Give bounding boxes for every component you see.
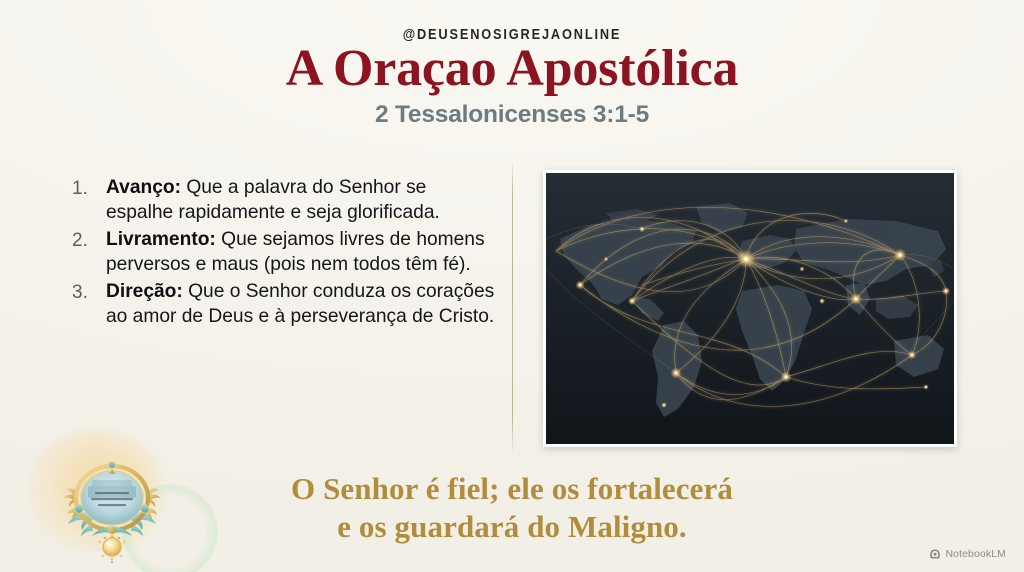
- list-item-number: 1.: [72, 176, 106, 202]
- list-item-number: 3.: [72, 280, 106, 306]
- slide-canvas: @DEUSENOSIGREJAONLINE A Oraçao Apostólic…: [0, 0, 1024, 572]
- list-item: 1. Avanço: Que a palavra do Senhor se es…: [72, 176, 496, 226]
- list-item-label: Direção:: [106, 281, 183, 302]
- ministry-seal-icon: [62, 446, 162, 564]
- list-item: 2. Livramento: Que sejamos livres de hom…: [72, 228, 496, 278]
- emblem-area: [26, 424, 202, 572]
- column-divider: [512, 163, 513, 451]
- points-list: 1. Avanço: Que a palavra do Senhor se es…: [72, 176, 496, 332]
- list-item-label: Avanço:: [106, 177, 181, 198]
- scripture-reference: 2 Tessalonicenses 3:1-5: [0, 101, 1024, 129]
- list-item: 3. Direção: Que o Senhor conduza os cora…: [72, 280, 496, 330]
- world-network-map: [546, 173, 954, 444]
- page-title: A Oraçao Apostólica: [0, 42, 1024, 97]
- world-network-map-frame: [543, 170, 957, 447]
- list-item-number: 2.: [72, 228, 106, 254]
- list-item-body: Avanço: Que a palavra do Senhor se espal…: [106, 176, 496, 226]
- notebooklm-label: NotebookLM: [945, 548, 1006, 560]
- list-item-label: Livramento:: [106, 229, 216, 250]
- notebooklm-icon: [929, 548, 941, 560]
- notebooklm-watermark: NotebookLM: [929, 548, 1006, 560]
- list-item-body: Direção: Que o Senhor conduza os coraçõe…: [106, 280, 496, 330]
- list-item-body: Livramento: Que sejamos livres de homens…: [106, 228, 496, 278]
